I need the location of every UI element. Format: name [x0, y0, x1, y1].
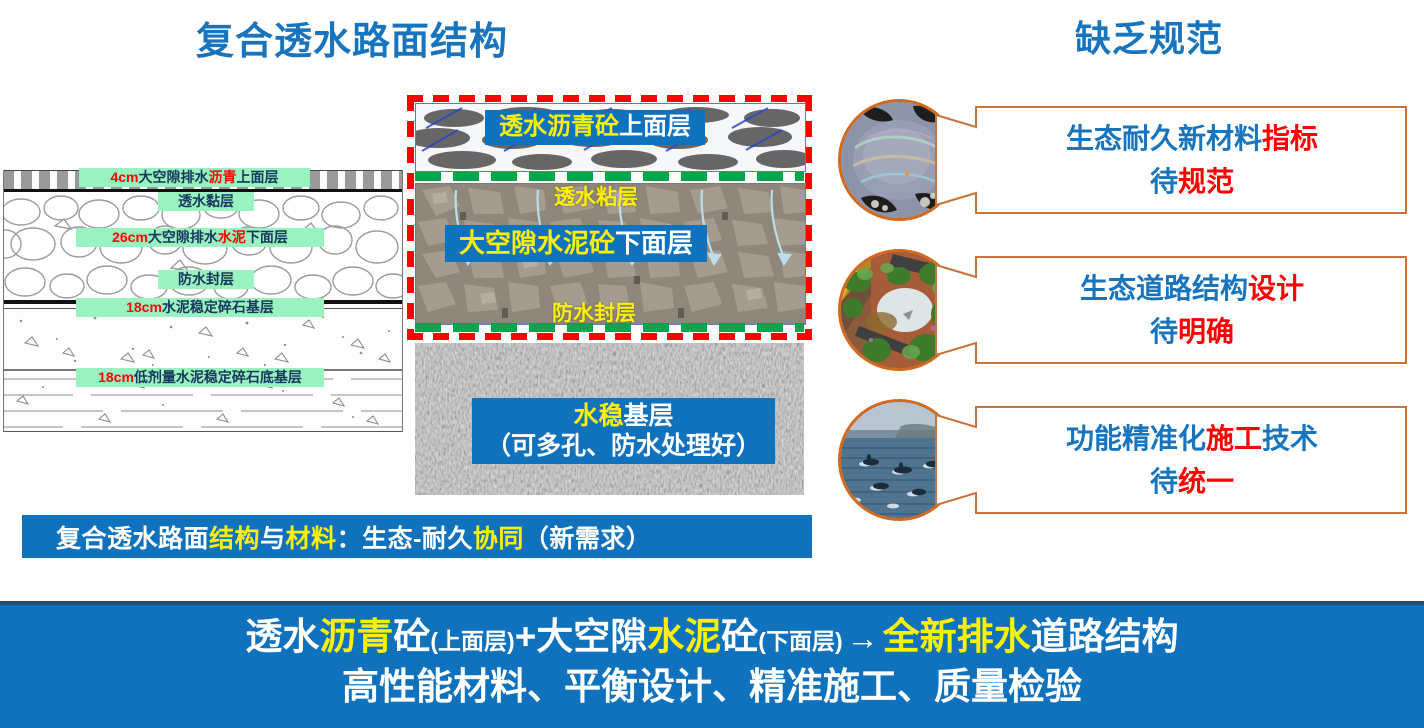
- callout-row-structure-design: 生态道路结构设计 待明确: [838, 245, 1408, 375]
- pavement-photo-stack: 透水沥青砼上面层 透水粘层 大空隙水泥砼下面层 防水封层 水稳基层 （可多孔、防…: [407, 95, 812, 500]
- callout-text-2: 功能精准化施工技术 待统一: [990, 417, 1394, 504]
- xs-tag-cement-subbase: 18cm低剂量水泥稳定碎石底基层: [76, 368, 324, 387]
- green-dashed-tack-band-top: [415, 172, 804, 181]
- page-title-left: 复合透水路面结构: [196, 10, 508, 65]
- callout-box-2: 功能精准化施工技术 待统一: [930, 405, 1408, 515]
- callout-text-1: 生态道路结构设计 待明确: [990, 267, 1394, 354]
- bottom-banner-line-2: 高性能材料、平衡设计、精准施工、质量检验: [0, 662, 1424, 712]
- bottom-summary-banner: 透水沥青砼(上面层)+大空隙水泥砼(下面层)→全新排水道路结构 高性能材料、平衡…: [0, 601, 1424, 728]
- callout-row-construction-technique: 功能精准化施工技术 待统一: [838, 395, 1408, 525]
- speckle-pattern-icon: [3, 309, 403, 370]
- label-porous-asphalt-surface: 透水沥青砼上面层: [485, 110, 705, 145]
- xs-tag-surface-course: 4cm大空隙排水沥青上面层: [79, 168, 310, 187]
- slide-root: 复合透水路面结构 缺乏规范: [0, 0, 1424, 728]
- right-arrow-icon: →: [843, 620, 883, 656]
- caption-bar: 复合透水路面结构与材料：生态-耐久协同（新需求）: [22, 515, 812, 558]
- xs-tag-tack-coat: 透水黏层: [158, 192, 254, 211]
- xs-tag-base-course: 26cm大空隙排水水泥下面层: [76, 228, 324, 247]
- callout-row-material-indicator: 生态耐久新材料指标 待规范: [838, 95, 1408, 225]
- label-tack-coat: 透水粘层: [554, 181, 638, 211]
- xs-tag-cement-base: 18cm水泥稳定碎石基层: [76, 298, 324, 317]
- xs-tag-waterproof-seal: 防水封层: [158, 270, 254, 289]
- page-title-right: 缺乏规范: [1075, 10, 1223, 62]
- label-porous-cement-base-course: 大空隙水泥砼下面层: [445, 225, 707, 262]
- callout-box-0: 生态耐久新材料指标 待规范: [930, 105, 1408, 215]
- callout-text-0: 生态耐久新材料指标 待规范: [990, 117, 1394, 204]
- label-cement-stabilized-base: 水稳基层 （可多孔、防水处理好）: [472, 398, 775, 464]
- bottom-banner-line-1: 透水沥青砼(上面层)+大空隙水泥砼(下面层)→全新排水道路结构: [0, 612, 1424, 662]
- label-waterproof-seal: 防水封层: [552, 297, 636, 327]
- callout-box-1: 生态道路结构设计 待明确: [930, 255, 1408, 365]
